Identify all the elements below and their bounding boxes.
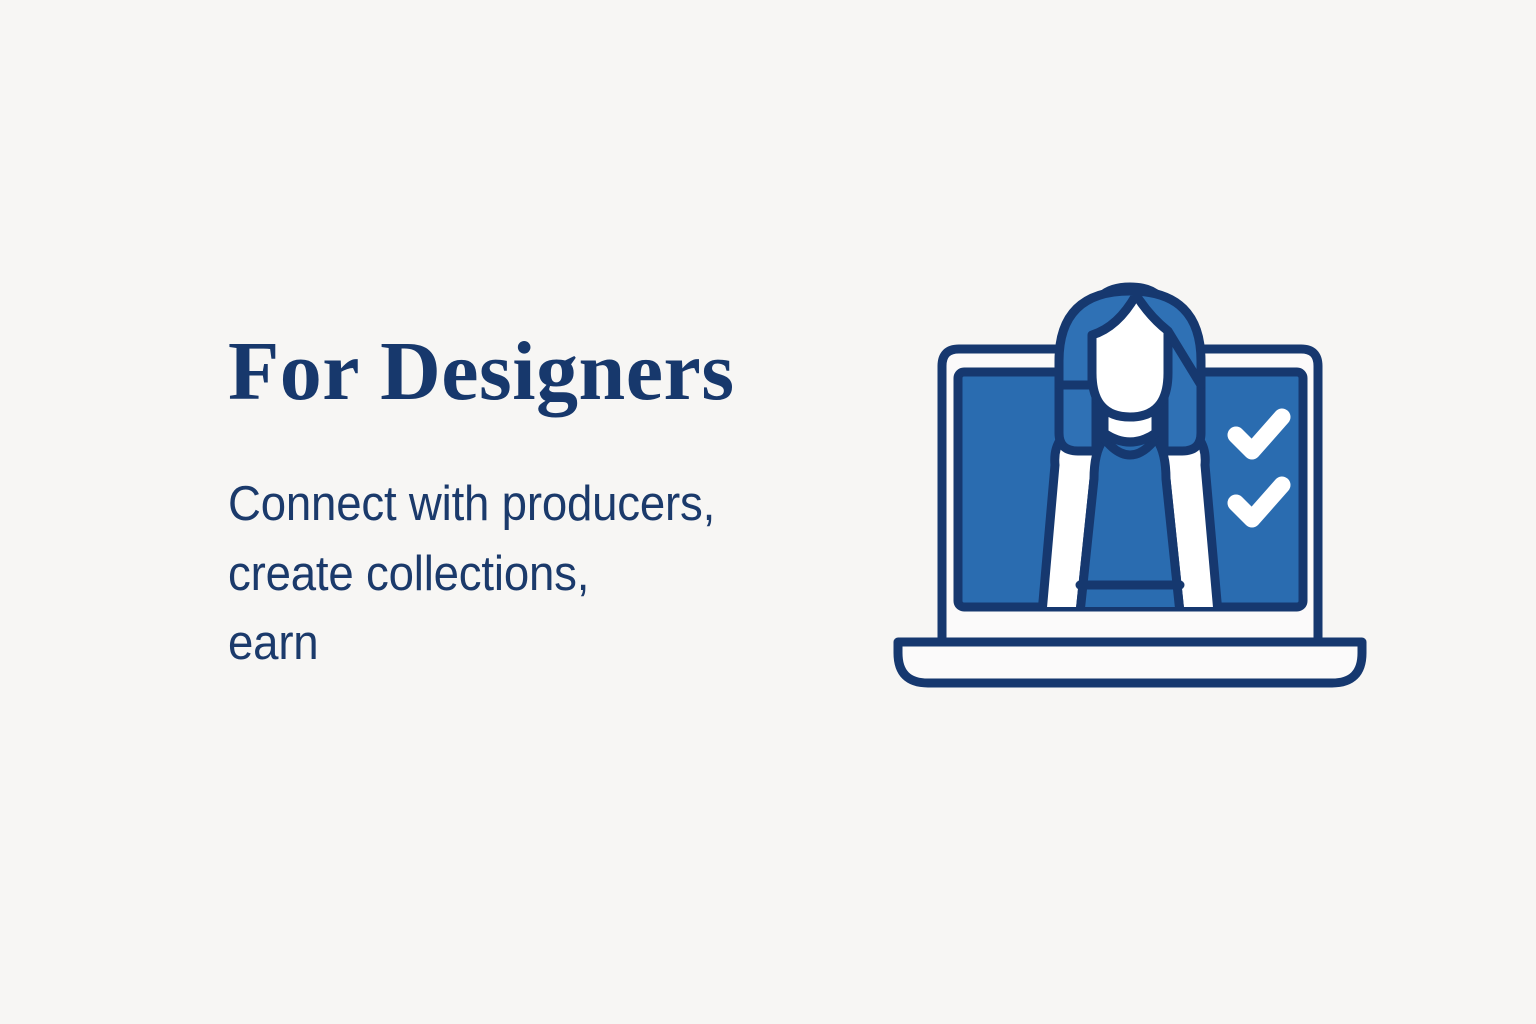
subtitle-line-1: Connect with producers,	[228, 470, 879, 540]
laptop-base	[898, 642, 1362, 683]
subtitle: Connect with producers, create collectio…	[228, 470, 879, 679]
subtitle-line-2: create collections,	[228, 540, 879, 610]
text-block: For Designers Connect with producers, cr…	[228, 330, 928, 679]
illustration-svg	[880, 265, 1380, 705]
slide-canvas: For Designers Connect with producers, cr…	[0, 0, 1536, 1024]
laptop-video-call-illustration	[880, 265, 1380, 705]
laptop-base-shape	[898, 642, 1362, 683]
subtitle-line-3: earn	[228, 609, 879, 679]
page-title: For Designers	[228, 330, 928, 414]
